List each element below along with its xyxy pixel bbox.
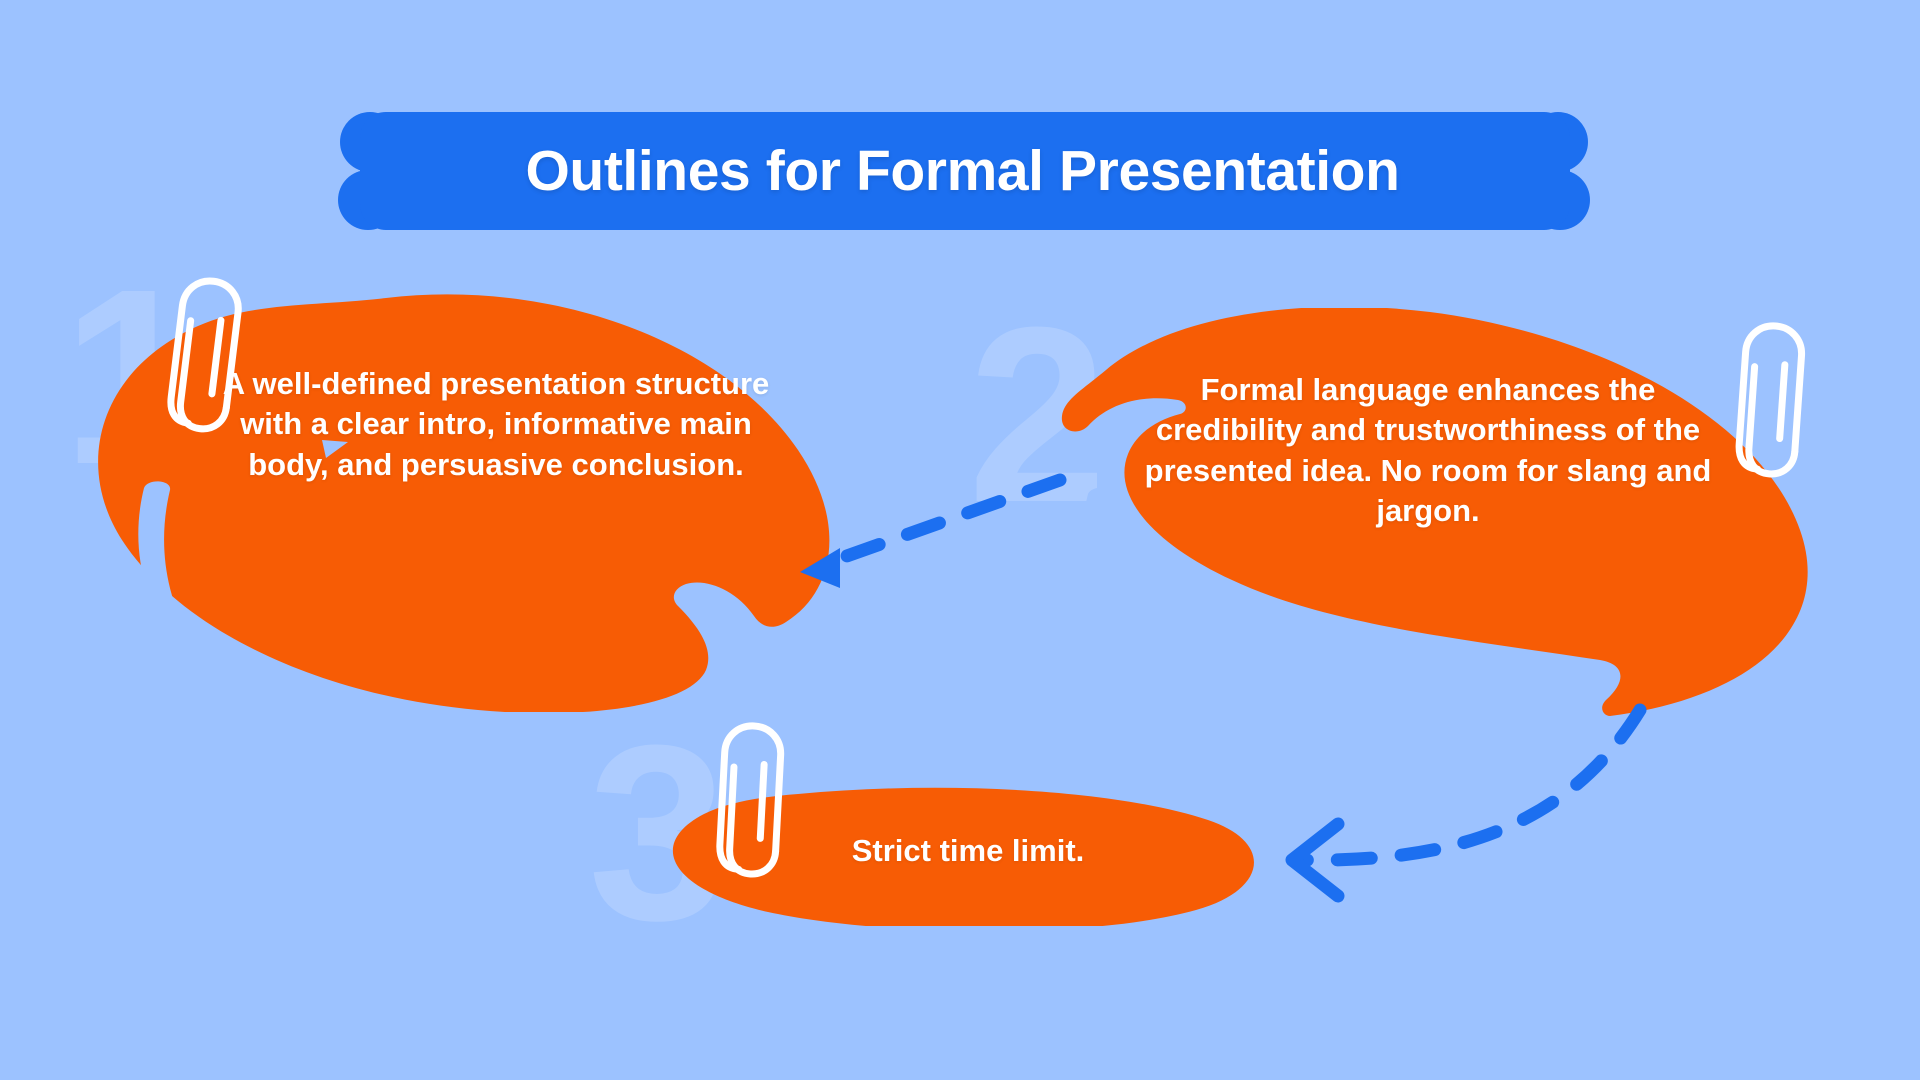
page-title: Outlines for Formal Presentation — [330, 112, 1595, 230]
point-card-2: Formal language enhances the credibility… — [1000, 308, 1825, 728]
title-banner: Outlines for Formal Presentation — [330, 112, 1595, 230]
point-card-1-text: A well-defined presentation structure wi… — [196, 364, 796, 485]
paperclip-icon-2 — [1732, 318, 1814, 492]
paperclip-icon-3 — [714, 718, 793, 891]
arrow-point2-to-point3 — [1292, 710, 1640, 896]
point-card-2-text: Formal language enhances the credibility… — [1128, 370, 1728, 531]
slide-canvas: 1 2 3 Outlines for Formal Presentation — [0, 0, 1920, 1080]
